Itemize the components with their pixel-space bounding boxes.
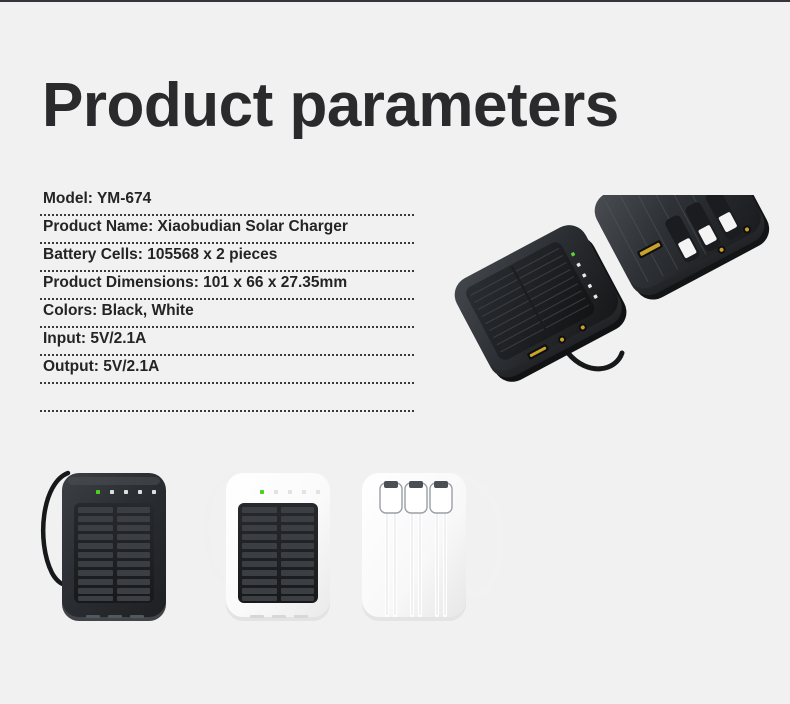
spec-row: Product Dimensions: 101 x 66 x 27.35mm xyxy=(40,272,414,300)
bottom-ports xyxy=(250,615,308,618)
spec-row: Output: 5V/2.1A xyxy=(40,356,414,384)
top-edge-strip xyxy=(0,0,790,2)
black-power-bank-illustration xyxy=(28,455,208,645)
product-hero-photo xyxy=(440,195,780,445)
hero-illustration xyxy=(440,195,780,445)
cable-strap xyxy=(460,477,501,594)
specification-list: Model: YM-674 Product Name: Xiaobudian S… xyxy=(40,188,414,412)
white-back-cables-illustration xyxy=(348,455,528,645)
product-parameters-page: Product parameters Model: YM-674 Product… xyxy=(0,0,790,704)
page-title: Product parameters xyxy=(42,70,619,142)
product-gallery xyxy=(0,455,790,655)
spec-row: Input: 5V/2.1A xyxy=(40,328,414,356)
spec-row: Battery Cells: 105568 x 2 pieces xyxy=(40,244,414,272)
spec-row-text: Colors: Black, White xyxy=(43,300,194,322)
spec-row: Model: YM-674 xyxy=(40,188,414,216)
spec-row: Product Name: Xiaobudian Solar Charger xyxy=(40,216,414,244)
spec-row-text: Product Dimensions: 101 x 66 x 27.35mm xyxy=(43,272,347,294)
bottom-ports xyxy=(86,615,144,618)
spec-row-divider xyxy=(40,410,414,412)
spec-row-text: Battery Cells: 105568 x 2 pieces xyxy=(43,244,277,266)
spec-row-text: Model: YM-674 xyxy=(43,188,151,210)
gallery-item-black-solar-power-bank xyxy=(28,455,208,645)
hero-lower-power-bank xyxy=(448,218,633,390)
spec-row-text: Output: 5V/2.1A xyxy=(43,356,159,378)
spec-row: Colors: Black, White xyxy=(40,300,414,328)
spec-row-text: Product Name: Xiaobudian Solar Charger xyxy=(43,216,348,238)
spec-row-text: Input: 5V/2.1A xyxy=(43,328,146,350)
gallery-item-white-power-bank-back-with-cables xyxy=(348,455,528,645)
spec-row xyxy=(40,384,414,412)
